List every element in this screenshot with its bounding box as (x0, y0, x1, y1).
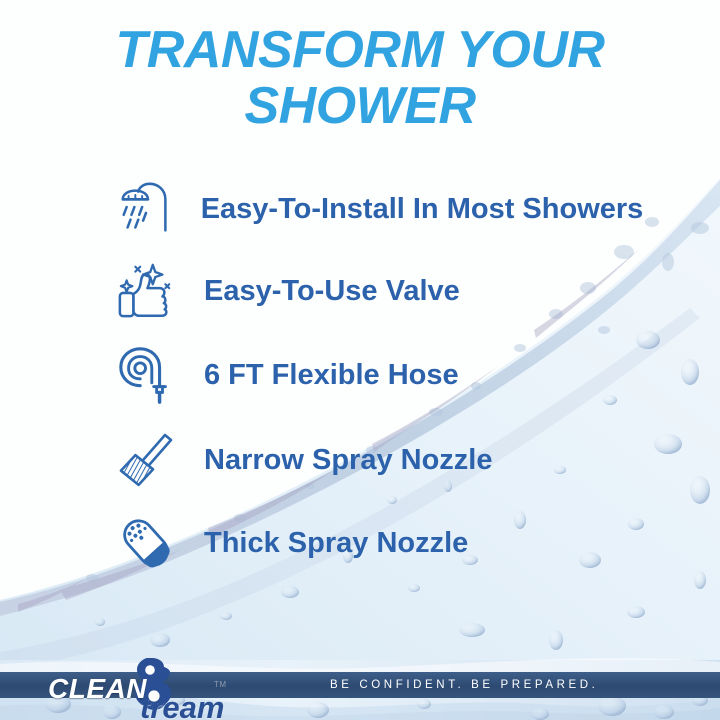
narrow-nozzle-icon (96, 418, 196, 502)
list-item: Easy-To-Use Valve (96, 250, 656, 332)
trademark-symbol: TM (214, 680, 227, 689)
list-item-label: Easy-To-Use Valve (196, 275, 656, 308)
list-item-label: 6 FT Flexible Hose (196, 359, 656, 392)
list-item-label: Easy-To-Install In Most Showers (196, 193, 656, 226)
list-item: Easy-To-Install In Most Showers (96, 168, 656, 250)
list-item: 6 FT Flexible Hose (96, 332, 656, 418)
footer-tagline: BE CONFIDENT. BE PREPARED. (330, 679, 598, 691)
logo-clean-text: CLEAN (48, 673, 147, 705)
logo-stream-text: tream (140, 690, 224, 720)
list-item: Thick Spray Nozzle (96, 502, 656, 584)
coiled-hose-icon (96, 332, 196, 418)
list-item-label: Thick Spray Nozzle (196, 527, 656, 560)
list-item-label: Narrow Spray Nozzle (196, 444, 656, 477)
shower-head-icon (96, 168, 196, 250)
feature-list: Easy-To-Install In Most Showers (96, 168, 656, 584)
page-title: TRANSFORM YOUR SHOWER (0, 22, 720, 134)
title-line-2: SHOWER (0, 78, 720, 134)
product-feature-poster: TRANSFORM YOUR SHOWER (0, 0, 720, 720)
cleanstream-logo[interactable]: CLEAN tream TM (12, 660, 282, 720)
thick-nozzle-icon (96, 502, 196, 584)
list-item: Narrow Spray Nozzle (96, 418, 656, 502)
thumbs-up-sparkle-icon (96, 250, 196, 332)
title-line-1: TRANSFORM YOUR (0, 22, 720, 78)
